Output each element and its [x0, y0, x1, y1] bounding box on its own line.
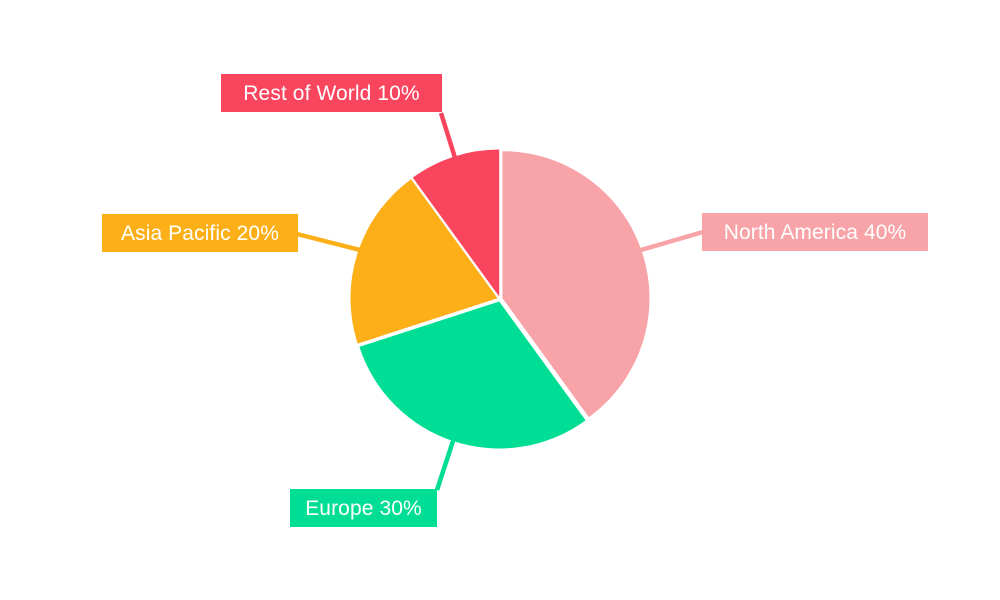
- leader-line-europe: [437, 441, 453, 490]
- leader-line-asia-pacific: [297, 234, 360, 250]
- pie-slices: [351, 150, 650, 449]
- pie-chart-canvas: [0, 0, 1000, 600]
- leader-line-rest-of-world: [441, 113, 456, 161]
- pie-label-europe-text: Europe 30%: [305, 498, 422, 519]
- pie-label-rest-of-world: Rest of World 10%: [221, 74, 442, 112]
- pie-label-asia-pacific-text: Asia Pacific 20%: [121, 223, 279, 244]
- pie-chart-figure: North America 40% Europe 30% Asia Pacifi…: [0, 0, 1000, 600]
- pie-label-rest-of-world-text: Rest of World 10%: [243, 83, 419, 104]
- pie-label-europe: Europe 30%: [290, 489, 437, 527]
- leader-line-north-america: [641, 232, 703, 250]
- pie-label-north-america-text: North America 40%: [724, 222, 907, 243]
- pie-label-asia-pacific: Asia Pacific 20%: [102, 214, 298, 252]
- pie-label-north-america: North America 40%: [702, 213, 928, 251]
